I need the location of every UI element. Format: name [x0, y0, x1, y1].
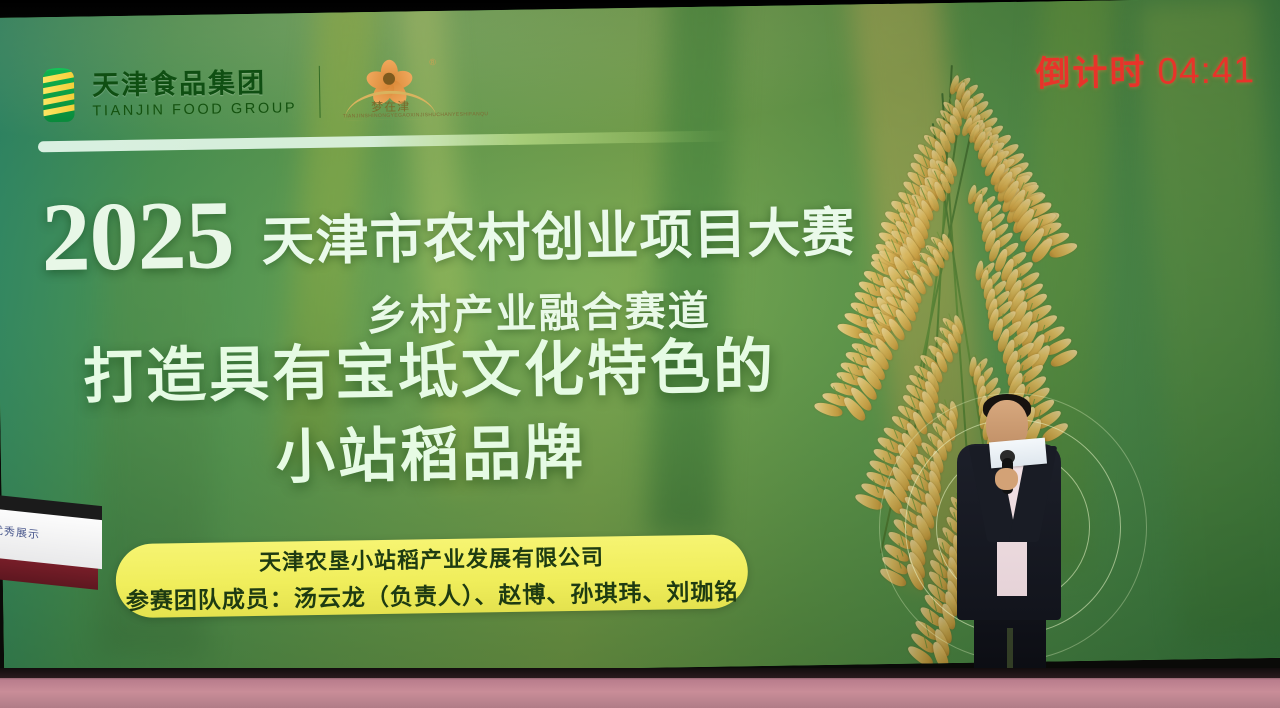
- competition-name: 天津市农村创业项目大赛: [261, 208, 856, 270]
- silo-logo-icon: [39, 68, 80, 125]
- presenter-note-cards: [989, 438, 1047, 469]
- project-title-line1: 打造具有宝坻文化特色的: [0, 322, 860, 421]
- countdown-timer: 倒计时 04:41: [1035, 42, 1255, 96]
- title-main-row: 2025 天津市农村创业项目大赛: [0, 179, 928, 284]
- countdown-time: 04:41: [1157, 49, 1255, 93]
- podium-lectern: 优秀展示: [0, 500, 114, 600]
- presenter-hand: [995, 468, 1018, 490]
- brand-name-cn: 天津食品集团: [92, 69, 297, 99]
- brand-name-en: TIANJIN FOOD GROUP: [92, 101, 297, 119]
- project-title: 打造具有宝坻文化特色的 小站稻品牌: [0, 322, 862, 504]
- company-name: 天津农垦小站稻产业发展有限公司: [259, 539, 604, 576]
- team-info-banner: 天津农垦小站稻产业发展有限公司 参赛团队成员：汤云龙（负责人）、赵博、孙琪玮、刘…: [115, 534, 748, 618]
- stage-photo: 天津食品集团 TIANJIN FOOD GROUP ® 梦在津 TIANJINS…: [0, 0, 1280, 708]
- presenter: [940, 392, 1090, 692]
- stage-edge-shadow: [0, 668, 1280, 678]
- competition-year: 2025: [41, 190, 234, 283]
- brand-logo-group: 天津食品集团 TIANJIN FOOD GROUP ® 梦在津 TIANJINS…: [39, 59, 439, 127]
- partner-emblem-icon: ® 梦在津 TIANJINSHINONGYEGAOXINJISHUCHANYES…: [342, 57, 439, 124]
- logo-divider: [318, 66, 320, 118]
- project-title-line2: 小站稻品牌: [0, 408, 861, 505]
- registered-mark: ®: [429, 57, 436, 67]
- brand-name-block: 天津食品集团 TIANJIN FOOD GROUP: [92, 69, 297, 119]
- team-members: 参赛团队成员：汤云龙（负责人）、赵博、孙琪玮、刘珈铭: [126, 572, 739, 616]
- countdown-label: 倒计时: [1035, 44, 1147, 97]
